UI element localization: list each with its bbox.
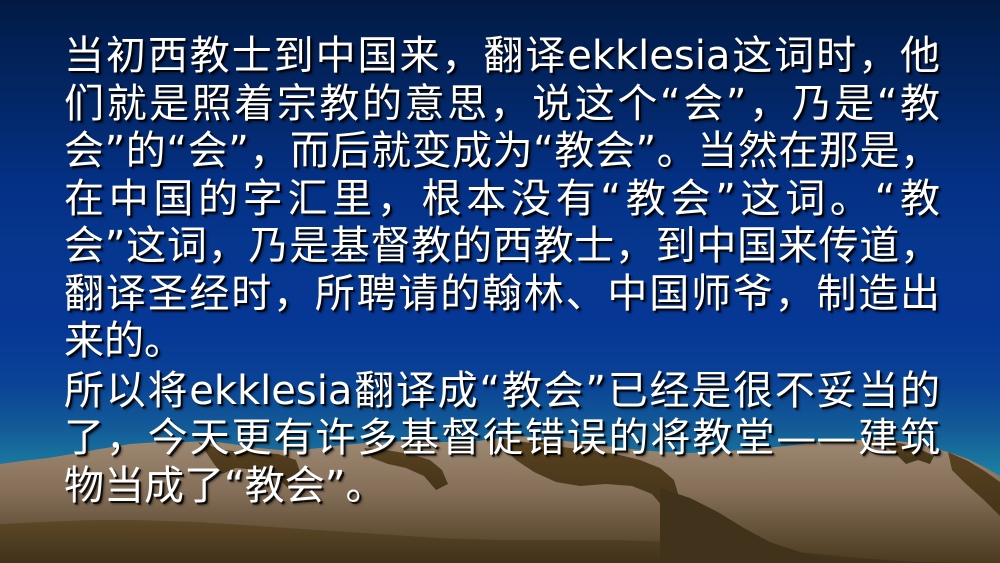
slide-text-layer: 当初西教士到中国来，翻译ekklesia这词时，他们就是照着宗教的意思，说这个“… bbox=[0, 0, 1000, 563]
slide-body-text: 当初西教士到中国来，翻译ekklesia这词时，他们就是照着宗教的意思，说这个“… bbox=[64, 33, 940, 510]
paragraph-2: 所以将ekklesia翻译成“教会”已经是很不妥当的了，今天更有许多基督徒错误的… bbox=[64, 368, 940, 511]
slide-canvas: 当初西教士到中国来，翻译ekklesia这词时，他们就是照着宗教的意思，说这个“… bbox=[0, 0, 1000, 563]
paragraph-1: 当初西教士到中国来，翻译ekklesia这词时，他们就是照着宗教的意思，说这个“… bbox=[64, 33, 940, 366]
